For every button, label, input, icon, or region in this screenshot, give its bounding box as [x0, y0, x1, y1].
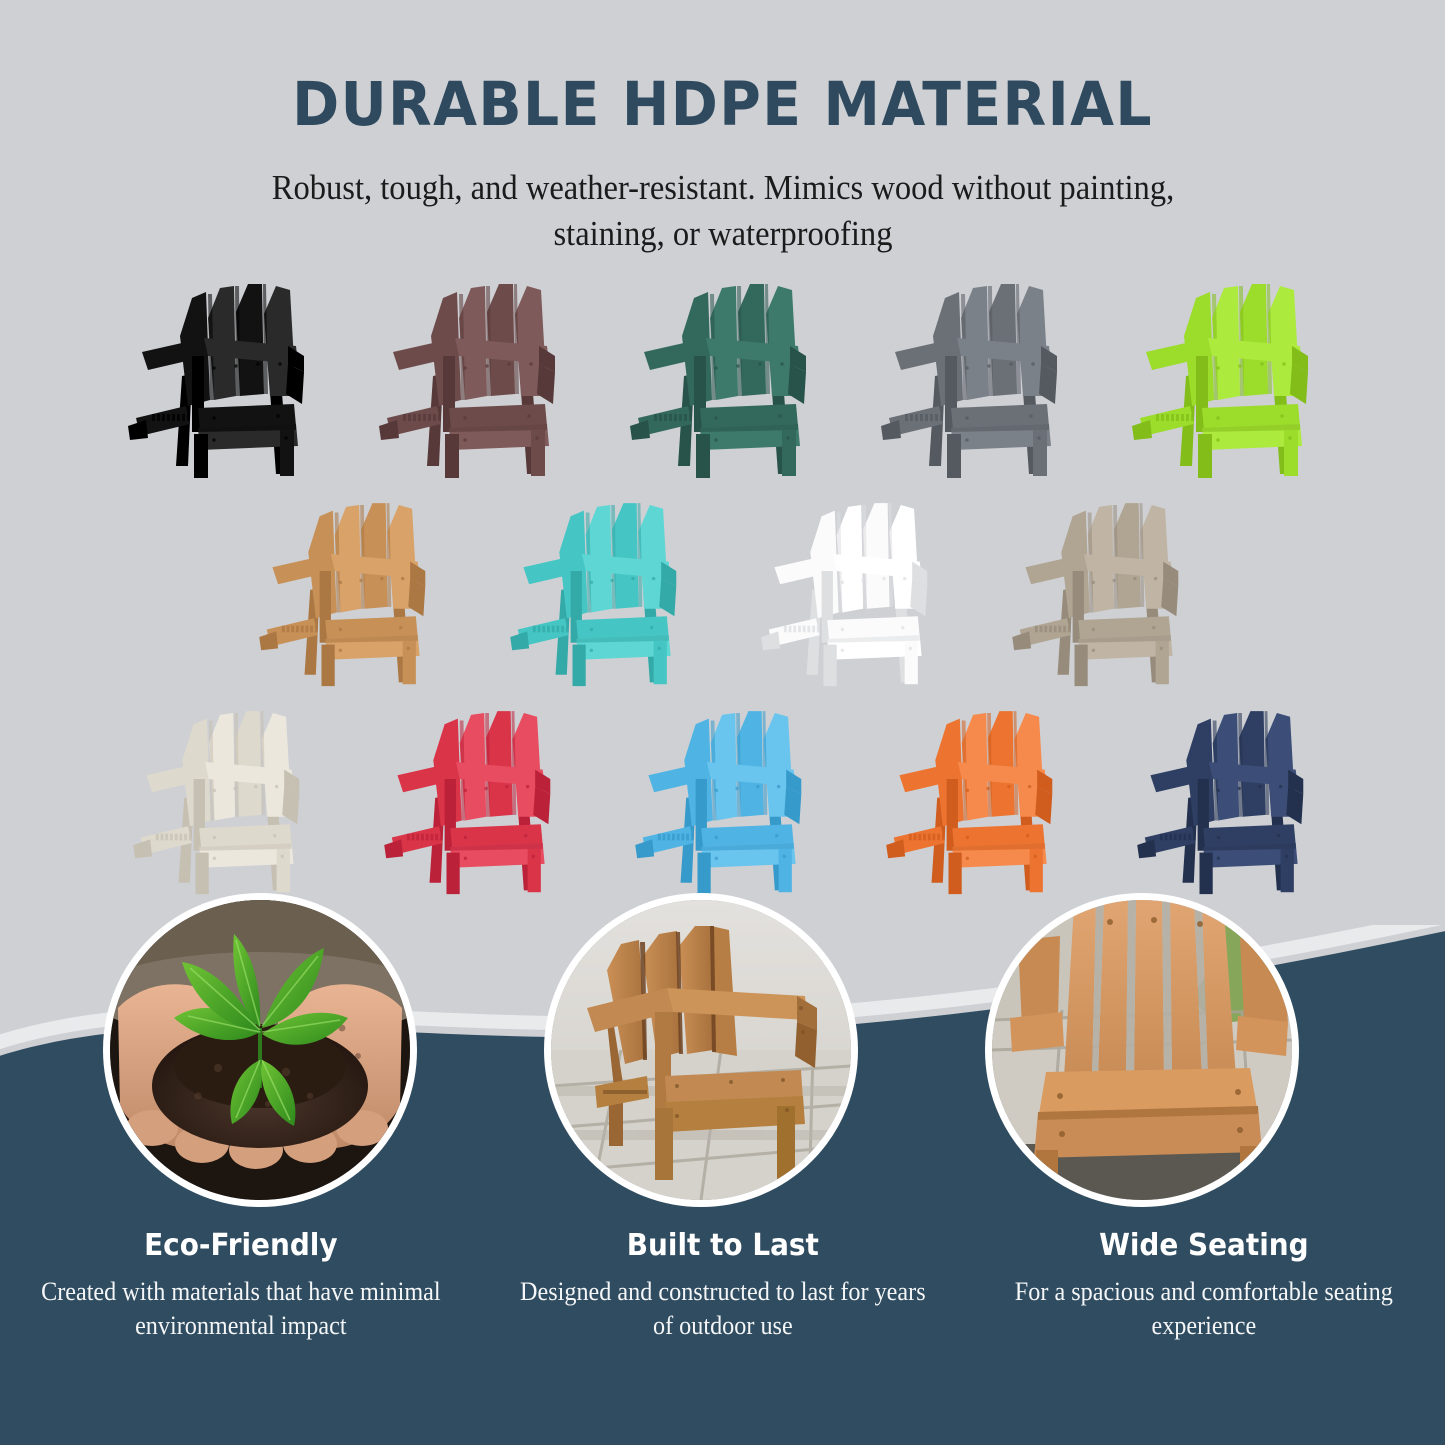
- chair-swatch-sky-blue[interactable]: [620, 696, 825, 896]
- feature-description: Designed and constructed to last for yea…: [512, 1275, 934, 1343]
- adirondack-chair-weathered-wood-icon: [997, 488, 1202, 688]
- feature-built-to-last: Built to Last Designed and constructed t…: [482, 1228, 964, 1343]
- chair-row-2: [0, 488, 1445, 688]
- page-subtitle: Robust, tough, and weather-resistant. Mi…: [258, 135, 1188, 256]
- chair-swatch-white[interactable]: [746, 488, 951, 688]
- adirondack-chair-dark-green-icon: [620, 268, 825, 480]
- wide-seat-closeup-photo: [985, 893, 1299, 1207]
- feature-title: Eco-Friendly: [30, 1228, 452, 1263]
- chair-swatch-teak[interactable]: [244, 488, 449, 688]
- chair-swatch-red[interactable]: [369, 696, 574, 896]
- seedling-in-hands-photo: [103, 893, 417, 1207]
- adirondack-chair-orange-icon: [871, 696, 1076, 896]
- adirondack-chair-lime-green-icon: [1122, 268, 1327, 480]
- feature-eco-friendly: Eco-Friendly Created with materials that…: [0, 1228, 482, 1343]
- feature-title: Built to Last: [512, 1228, 934, 1263]
- header: DURABLE HDPE MATERIAL Robust, tough, and…: [0, 0, 1445, 256]
- feature-description: For a spacious and comfortable seating e…: [993, 1275, 1415, 1343]
- adirondack-chair-red-icon: [369, 696, 574, 896]
- chair-color-grid: [0, 268, 1445, 896]
- adirondack-chair-navy-blue-icon: [1122, 696, 1327, 896]
- adirondack-chair-teak-icon: [244, 488, 449, 688]
- chair-swatch-weathered-wood[interactable]: [997, 488, 1202, 688]
- feature-description: Created with materials that have minimal…: [30, 1275, 452, 1343]
- adirondack-chair-black-icon: [118, 268, 323, 480]
- feature-photo-row: [0, 893, 1445, 1233]
- feature-text-row: Eco-Friendly Created with materials that…: [0, 1228, 1445, 1343]
- adirondack-chair-turquoise-icon: [495, 488, 700, 688]
- chair-swatch-lime-green[interactable]: [1122, 268, 1327, 480]
- wide-seat-illustration: [992, 900, 1292, 1200]
- feature-title: Wide Seating: [993, 1228, 1415, 1263]
- feature-wide-seating: Wide Seating For a spacious and comforta…: [963, 1228, 1445, 1343]
- adirondack-chair-ivory-icon: [118, 696, 323, 896]
- chair-swatch-turquoise[interactable]: [495, 488, 700, 688]
- chair-row-3: [0, 696, 1445, 896]
- chair-swatch-orange[interactable]: [871, 696, 1076, 896]
- page-title: DURABLE HDPE MATERIAL: [51, 0, 1395, 135]
- adirondack-chair-dark-brown-icon: [369, 268, 574, 480]
- adirondack-chair-sky-blue-icon: [620, 696, 825, 896]
- infographic-canvas: DURABLE HDPE MATERIAL Robust, tough, and…: [0, 0, 1445, 1445]
- chair-row-1: [0, 268, 1445, 480]
- chair-swatch-gray[interactable]: [871, 268, 1076, 480]
- teak-chair-on-patio-photo: [544, 893, 858, 1207]
- chair-swatch-ivory[interactable]: [118, 696, 323, 896]
- chair-swatch-black[interactable]: [118, 268, 323, 480]
- adirondack-chair-white-icon: [746, 488, 951, 688]
- seedling-illustration: [110, 900, 410, 1200]
- chair-swatch-dark-brown[interactable]: [369, 268, 574, 480]
- patio-chair-illustration: [551, 900, 851, 1200]
- chair-swatch-navy-blue[interactable]: [1122, 696, 1327, 896]
- adirondack-chair-gray-icon: [871, 268, 1076, 480]
- chair-swatch-dark-green[interactable]: [620, 268, 825, 480]
